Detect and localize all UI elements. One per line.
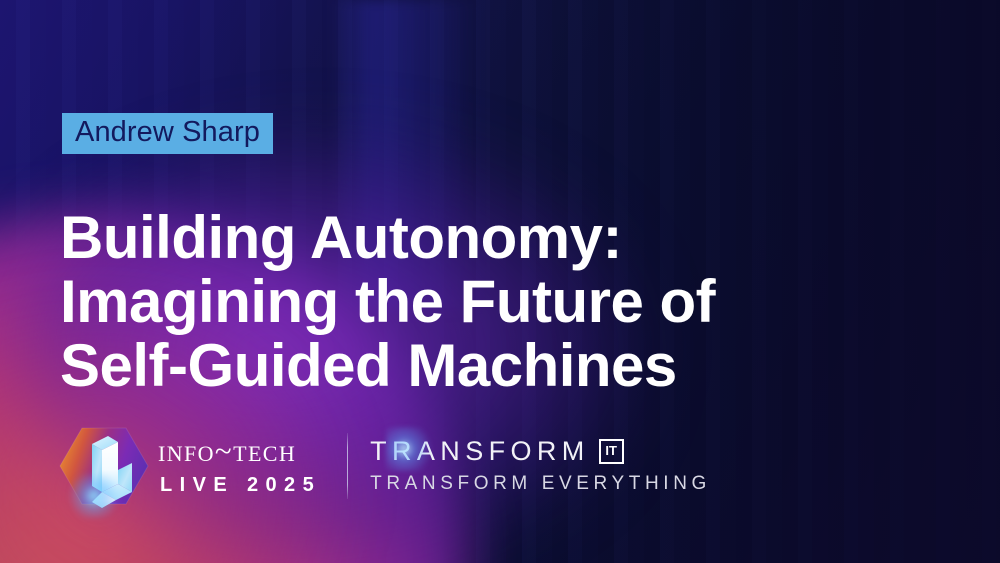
info-tech-wordmark: Info~Tech LIVE 2025 — [158, 435, 321, 498]
transform-name-row: TRANSFORM IT — [370, 436, 711, 466]
transform-name: TRANSFORM — [370, 436, 590, 466]
info-tech-logo-icon — [56, 418, 152, 514]
logo-lockup: Info~Tech LIVE 2025 TRANSFORM IT TRANSFO… — [56, 418, 711, 514]
transform-wordmark: TRANSFORM IT TRANSFORM EVERYTHING — [370, 436, 711, 496]
transform-tagline: TRANSFORM EVERYTHING — [370, 472, 711, 496]
speaker-name-badge: Andrew Sharp — [62, 113, 273, 154]
presentation-slide: Andrew Sharp Building Autonomy: Imaginin… — [0, 0, 1000, 563]
slide-title: Building Autonomy: Imagining the Future … — [60, 206, 850, 398]
lockup-divider — [347, 433, 348, 499]
info-tech-tagline: LIVE 2025 — [158, 472, 321, 498]
it-badge-icon: IT — [599, 439, 624, 464]
info-tech-name: Info~Tech — [158, 435, 321, 467]
